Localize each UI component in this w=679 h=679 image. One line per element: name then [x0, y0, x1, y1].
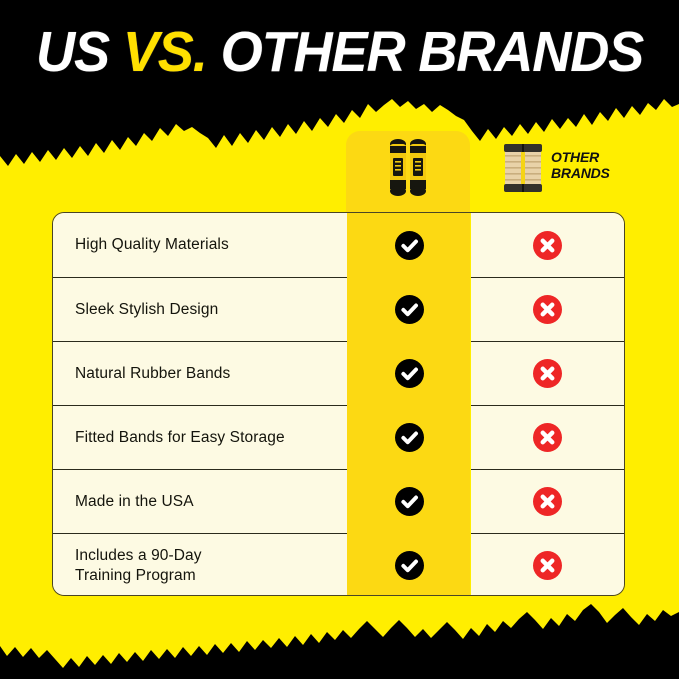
cross-circle-icon — [533, 359, 562, 388]
other-brands-cell — [471, 533, 624, 596]
other-brands-cell — [471, 469, 624, 533]
title-part-rest: OTHER BRANDS — [207, 20, 643, 84]
comparison-table: High Quality MaterialsSleek Stylish Desi… — [52, 212, 625, 596]
feature-cell: Includes a 90-DayTraining Program — [53, 533, 347, 596]
check-circle-icon — [395, 359, 424, 388]
other-brands-cell — [471, 213, 624, 277]
other-brands-cell — [471, 277, 624, 341]
title-part-vs: VS. — [123, 20, 207, 84]
check-circle-icon — [395, 231, 424, 260]
feature-label: Includes a 90-DayTraining Program — [75, 546, 202, 586]
feature-cell: Natural Rubber Bands — [53, 341, 347, 405]
feature-cell: Fitted Bands for Easy Storage — [53, 405, 347, 469]
yellow-grip-pair-icon — [387, 136, 431, 198]
feature-label: Fitted Bands for Easy Storage — [75, 428, 285, 448]
feature-label: High Quality Materials — [75, 235, 229, 255]
table-row: Includes a 90-DayTraining Program — [53, 533, 624, 596]
check-circle-icon — [395, 423, 424, 452]
table-row: Sleek Stylish Design — [53, 277, 624, 341]
cross-circle-icon — [533, 551, 562, 580]
cross-circle-icon — [533, 423, 562, 452]
tan-corded-grip-icon — [501, 141, 545, 196]
comparison-infographic: US VS. OTHER BRANDS — [0, 0, 679, 679]
other-brands-label-line2: BRANDS — [551, 166, 610, 182]
header-band: US VS. OTHER BRANDS — [0, 0, 679, 104]
us-cell — [347, 469, 471, 533]
feature-cell: Made in the USA — [53, 469, 347, 533]
other-brands-cell — [471, 341, 624, 405]
other-brands-column-label: OTHER BRANDS — [551, 150, 610, 182]
feature-label: Natural Rubber Bands — [75, 364, 230, 384]
check-circle-icon — [395, 551, 424, 580]
us-cell — [347, 533, 471, 596]
cross-circle-icon — [533, 231, 562, 260]
other-brands-cell — [471, 405, 624, 469]
us-cell — [347, 405, 471, 469]
check-circle-icon — [395, 295, 424, 324]
cross-circle-icon — [533, 487, 562, 516]
table-row: Natural Rubber Bands — [53, 341, 624, 405]
feature-label: Made in the USA — [75, 492, 194, 512]
us-cell — [347, 213, 471, 277]
feature-label: Sleek Stylish Design — [75, 300, 218, 320]
us-cell — [347, 341, 471, 405]
us-cell — [347, 277, 471, 341]
table-row: Fitted Bands for Easy Storage — [53, 405, 624, 469]
title-part-us: US — [36, 20, 123, 84]
other-brands-label-line1: OTHER — [551, 150, 610, 166]
table-row: Made in the USA — [53, 469, 624, 533]
page-title: US VS. OTHER BRANDS — [36, 24, 643, 81]
table-row: High Quality Materials — [53, 213, 624, 277]
cross-circle-icon — [533, 295, 562, 324]
check-circle-icon — [395, 487, 424, 516]
feature-cell: High Quality Materials — [53, 213, 347, 277]
feature-cell: Sleek Stylish Design — [53, 277, 347, 341]
